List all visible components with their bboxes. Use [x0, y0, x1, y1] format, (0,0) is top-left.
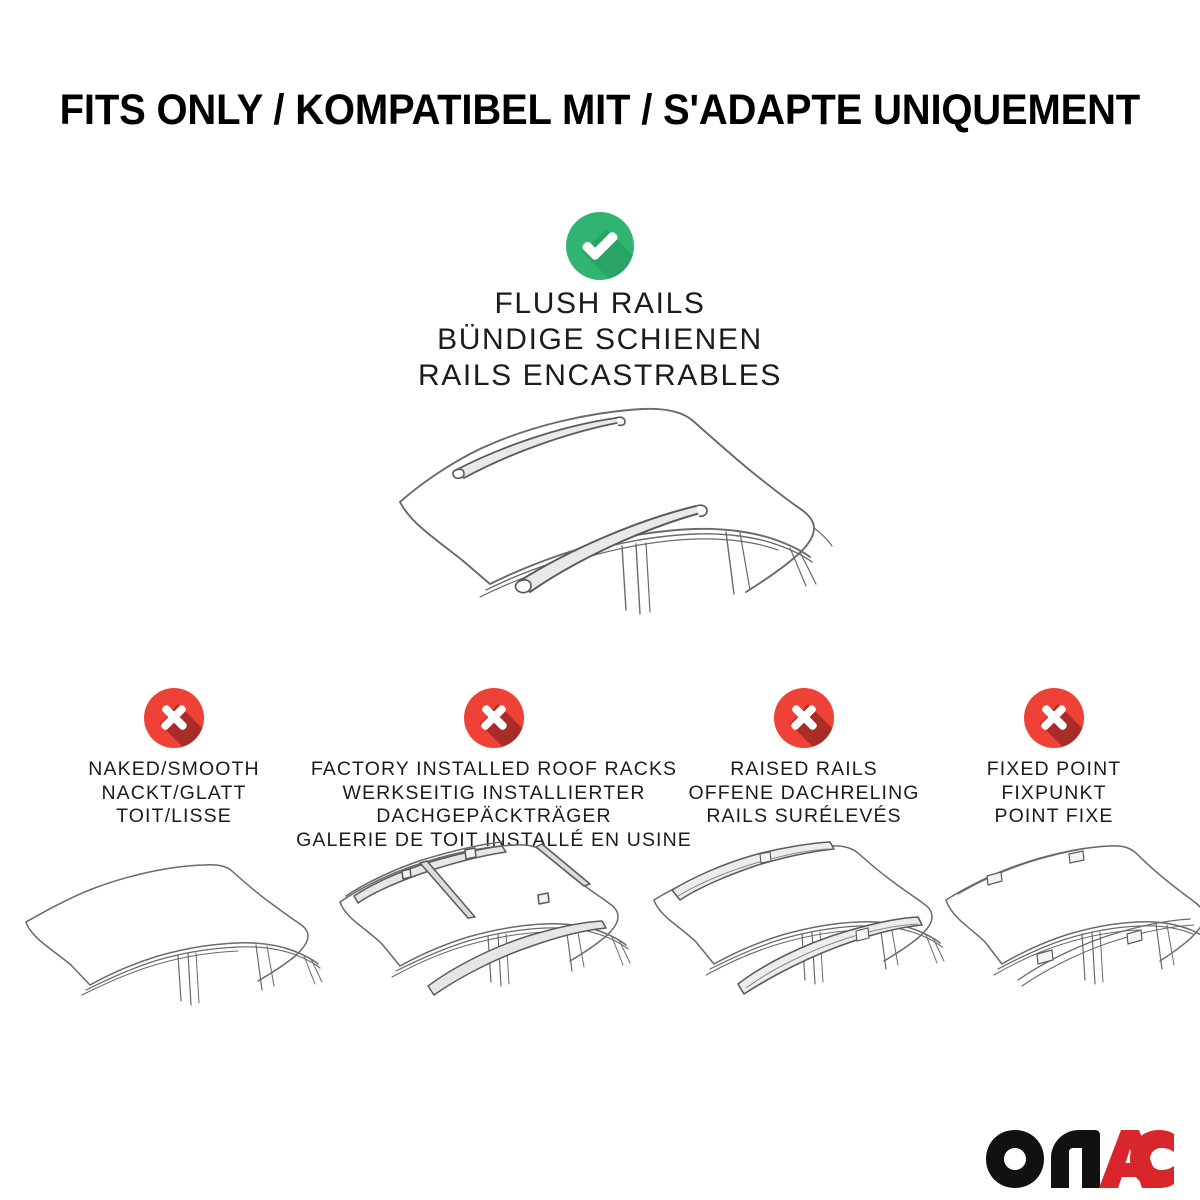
x-circle-icon [144, 688, 204, 748]
car-roof-factory-installed-racks-illustration [310, 838, 640, 1043]
page-title-text: FITS ONLY / KOMPATIBEL MIT / S'ADAPTE UN… [60, 86, 1140, 135]
x-circle-icon [1024, 688, 1084, 748]
naked-smooth-label-de: NACKT/GLATT [88, 782, 259, 806]
raised-rails-label-fr: RAILS SURÉLEVÉS [688, 805, 919, 829]
x-circle-icon [774, 688, 834, 748]
fixed-point-label-en: FIXED POINT [987, 758, 1122, 782]
raised-rails-label-de: OFFENE DACHRELING [688, 782, 919, 806]
x-circle-icon [464, 688, 524, 748]
page-title: FITS ONLY / KOMPATIBEL MIT / S'ADAPTE UN… [0, 86, 1200, 135]
flush-rails-caption: FLUSH RAILS BÜNDIGE SCHIENEN RAILS ENCAS… [0, 286, 1200, 394]
raised-rails-caption: RAISED RAILS OFFENE DACHRELING RAILS SUR… [688, 758, 919, 829]
flush-rails-label-fr: RAILS ENCASTRABLES [0, 358, 1200, 394]
car-roof-fixed-point-illustration [940, 838, 1200, 1043]
factory-racks-label-de-1: WERKSEITIG INSTALLIERTER [296, 782, 692, 806]
naked-smooth-label-en: NAKED/SMOOTH [88, 758, 259, 782]
check-circle-icon [566, 212, 634, 280]
flush-rails-label-en: FLUSH RAILS [0, 286, 1200, 322]
factory-racks-label-de-2: DACHGEPÄCKTRÄGER [296, 805, 692, 829]
car-roof-with-flush-rails-illustration [390, 398, 860, 633]
omac-logo [985, 1129, 1175, 1191]
naked-smooth-label-fr: TOIT/LISSE [88, 805, 259, 829]
flush-rails-label-de: BÜNDIGE SCHIENEN [0, 322, 1200, 358]
car-roof-raised-rails-illustration [630, 838, 950, 1043]
factory-racks-label-en: FACTORY INSTALLED ROOF RACKS [296, 758, 692, 782]
fixed-point-label-de: FIXPUNKT [987, 782, 1122, 806]
naked-smooth-caption: NAKED/SMOOTH NACKT/GLATT TOIT/LISSE [88, 758, 259, 829]
fixed-point-label-fr: POINT FIXE [987, 805, 1122, 829]
fixed-point-caption: FIXED POINT FIXPUNKT POINT FIXE [987, 758, 1122, 829]
car-roof-naked-smooth-illustration [18, 858, 328, 1048]
raised-rails-label-en: RAISED RAILS [688, 758, 919, 782]
